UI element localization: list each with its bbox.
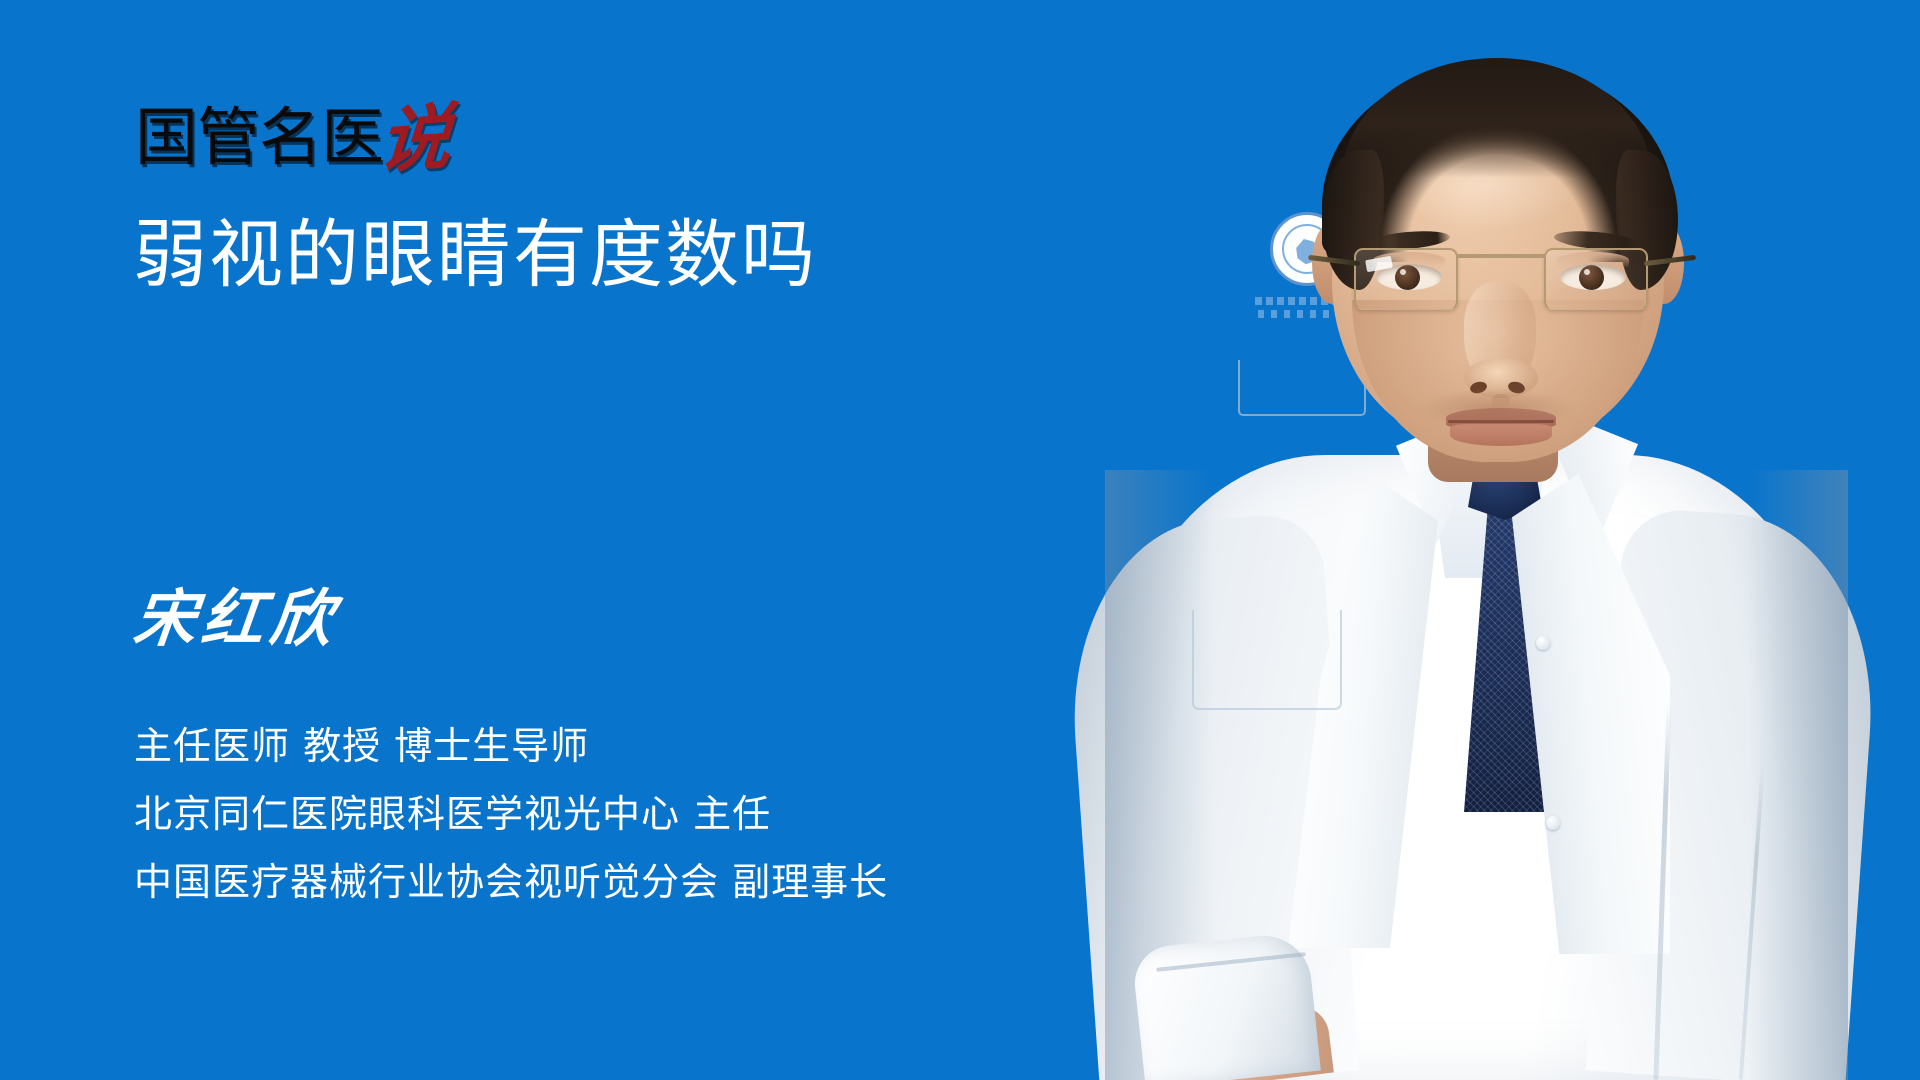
coat-lower-pocket — [1192, 610, 1342, 710]
program-logo-text: 国管名医 — [135, 106, 383, 170]
eyeglasses-lens-left — [1354, 248, 1458, 310]
promo-banner: 国管名医 说 弱视的眼睛有度数吗 宋红欣 主任医师 教授 博士生导师 北京同仁医… — [0, 0, 1920, 1080]
credential-line-1: 主任医师 教授 博士生导师 — [134, 722, 888, 770]
doctor-name: 宋红欣 — [130, 580, 342, 658]
coat-button-lower — [1546, 816, 1560, 830]
credential-line-3: 中国医疗器械行业协会视听觉分会 副理事长 — [134, 858, 888, 906]
doctor-credentials: 主任医师 教授 博士生导师 北京同仁医院眼科医学视光中心 主任 中国医疗器械行业… — [134, 722, 888, 906]
eyeglasses-bridge — [1456, 254, 1546, 258]
program-logo[interactable]: 国管名医 说 — [135, 96, 451, 170]
hair-crown — [1342, 58, 1652, 178]
program-logo-accent-char: 说 — [377, 106, 454, 173]
eyeglasses-lens-right — [1544, 248, 1648, 310]
coat-button-upper — [1536, 636, 1550, 650]
coat-chest-pocket — [1238, 360, 1366, 416]
credential-line-2: 北京同仁医院眼科医学视光中心 主任 — [134, 790, 888, 838]
doctor-portrait — [1060, 0, 1920, 1080]
episode-title: 弱视的眼睛有度数吗 — [133, 212, 817, 298]
chin-shadow — [1416, 388, 1576, 430]
